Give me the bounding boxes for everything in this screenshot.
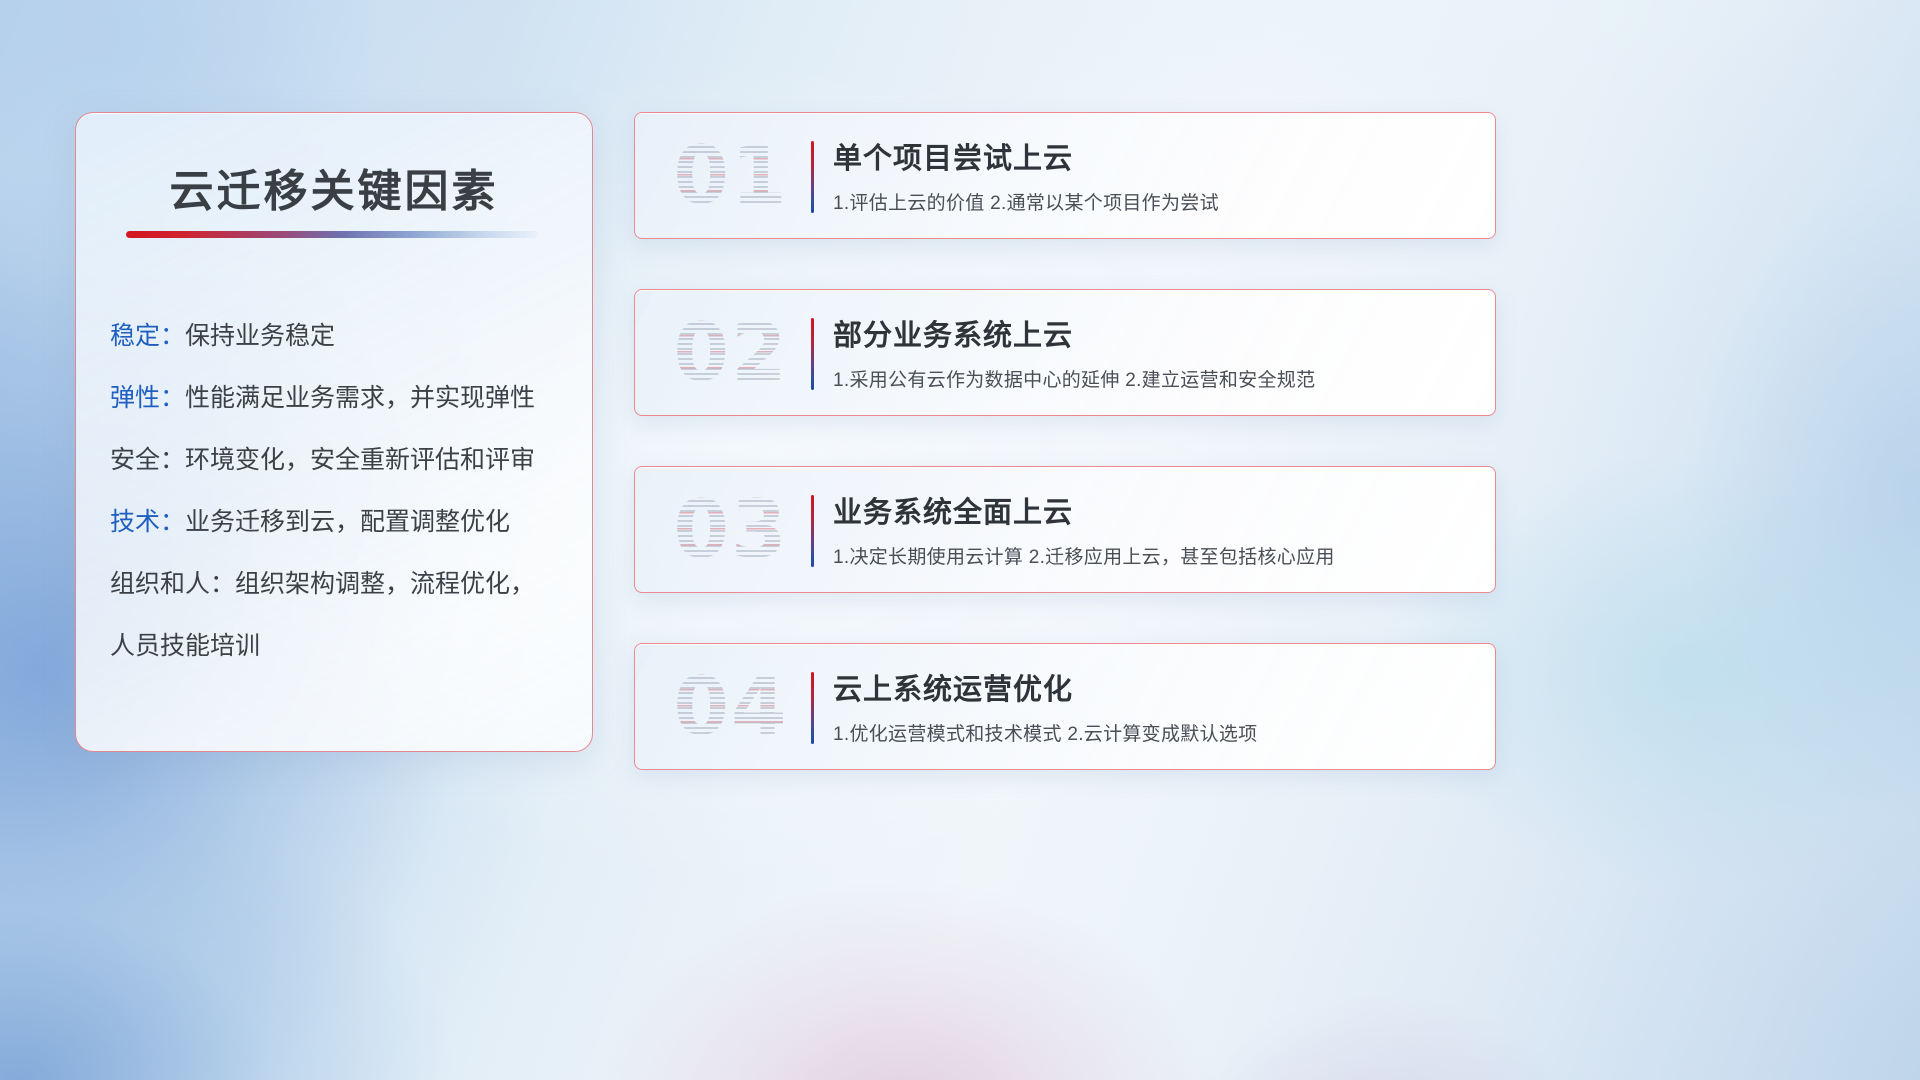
key-factor-item: 安全：环境变化，安全重新评估和评审	[110, 429, 570, 491]
accent-bar	[811, 495, 814, 567]
key-factor-label: 组织和人：	[110, 570, 235, 598]
accent-bar	[811, 141, 814, 213]
migration-stage-card[interactable]: 0101单个项目尝试上云1.评估上云的价值 2.通常以某个项目作为尝试	[634, 112, 1496, 239]
key-factor-label: 稳定：	[110, 322, 185, 350]
migration-stage-card[interactable]: 0303业务系统全面上云1.决定长期使用云计算 2.迁移应用上云，甚至包括核心应…	[634, 466, 1496, 593]
stage-description: 1.决定长期使用云计算 2.迁移应用上云，甚至包括核心应用	[833, 542, 1335, 569]
key-factor-label: 弹性：	[110, 384, 185, 412]
key-factor-label: 技术：	[110, 508, 185, 536]
key-factors-list: 稳定：保持业务稳定弹性：性能满足业务需求，并实现弹性安全：环境变化，安全重新评估…	[110, 305, 570, 677]
accent-bar	[811, 318, 814, 390]
key-factor-text: 保持业务稳定	[185, 322, 335, 350]
stage-number: 04	[661, 657, 801, 757]
stage-number: 02	[661, 303, 801, 403]
migration-stage-card[interactable]: 0404云上系统运营优化1.优化运营模式和技术模式 2.云计算变成默认选项	[634, 643, 1496, 770]
stage-description: 1.评估上云的价值 2.通常以某个项目作为尝试	[833, 188, 1219, 215]
key-factors-panel: 云迁移关键因素 稳定：保持业务稳定弹性：性能满足业务需求，并实现弹性安全：环境变…	[75, 112, 593, 752]
stage-number: 01	[661, 126, 801, 226]
title-underline-accent	[126, 231, 538, 238]
key-factor-text: 环境变化，安全重新评估和评审	[185, 446, 535, 474]
key-factor-item: 人员技能培训	[110, 615, 570, 677]
stage-description: 1.采用公有云作为数据中心的延伸 2.建立运营和安全规范	[833, 365, 1315, 392]
key-factor-item: 组织和人：组织架构调整，流程优化，	[110, 553, 570, 615]
key-factor-text: 人员技能培训	[110, 632, 260, 660]
key-factor-item: 稳定：保持业务稳定	[110, 305, 570, 367]
stage-number: 03	[661, 480, 801, 580]
migration-stage-card[interactable]: 0202部分业务系统上云1.采用公有云作为数据中心的延伸 2.建立运营和安全规范	[634, 289, 1496, 416]
stage-title: 单个项目尝试上云	[833, 135, 1073, 177]
key-factor-text: 性能满足业务需求，并实现弹性	[185, 384, 535, 412]
stage-title: 业务系统全面上云	[833, 489, 1073, 531]
panel-title: 云迁移关键因素	[76, 155, 592, 219]
stage-description: 1.优化运营模式和技术模式 2.云计算变成默认选项	[833, 719, 1257, 746]
key-factor-text: 业务迁移到云，配置调整优化	[185, 508, 510, 536]
key-factor-item: 技术：业务迁移到云，配置调整优化	[110, 491, 570, 553]
stage-title: 部分业务系统上云	[833, 312, 1073, 354]
stage-title: 云上系统运营优化	[833, 666, 1073, 708]
key-factor-label: 安全：	[110, 446, 185, 474]
key-factor-text: 组织架构调整，流程优化，	[235, 570, 535, 598]
migration-stage-card-list: 0101单个项目尝试上云1.评估上云的价值 2.通常以某个项目作为尝试0202部…	[634, 112, 1496, 820]
key-factor-item: 弹性：性能满足业务需求，并实现弹性	[110, 367, 570, 429]
accent-bar	[811, 672, 814, 744]
